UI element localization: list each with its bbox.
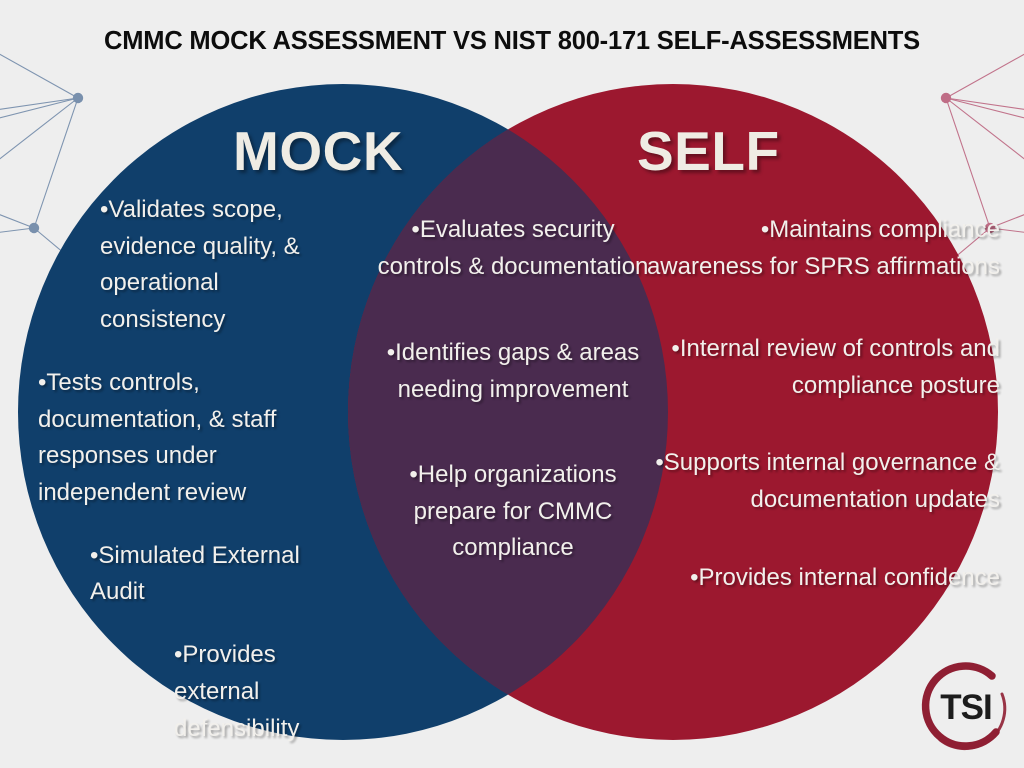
mock-bullet-3: •Simulated External Audit bbox=[90, 538, 338, 611]
self-bullet-2: •Internal review of controls and complia… bbox=[640, 331, 1000, 404]
overlap-bullet-3: •Help organizations prepare for CMMC com… bbox=[368, 457, 658, 567]
overlap-bullet-1: •Evaluates security controls & documenta… bbox=[368, 212, 658, 285]
mock-bullet-1: •Validates scope, evidence quality, & op… bbox=[100, 192, 338, 339]
tsi-logo-text: TSI bbox=[918, 660, 1014, 756]
tsi-logo: TSI bbox=[918, 660, 1014, 756]
self-bullet-list: •Maintains compliance awareness for SPRS… bbox=[640, 212, 1000, 597]
mock-bullet-list: •Validates scope, evidence quality, & op… bbox=[38, 192, 338, 747]
self-bullet-3: •Supports internal governance & document… bbox=[640, 445, 1000, 518]
overlap-bullet-list: •Evaluates security controls & documenta… bbox=[368, 212, 658, 567]
venn-heading-self: SELF bbox=[637, 119, 780, 183]
venn-heading-mock: MOCK bbox=[233, 119, 403, 183]
mock-bullet-4: •Provides external defensibility bbox=[174, 637, 338, 747]
page-title: CMMC MOCK ASSESSMENT VS NIST 800-171 SEL… bbox=[0, 27, 1024, 56]
infographic-canvas: CMMC MOCK ASSESSMENT VS NIST 800-171 SEL… bbox=[0, 0, 1024, 768]
overlap-bullet-2: •Identifies gaps & areas needing improve… bbox=[368, 335, 658, 408]
self-bullet-4: •Provides internal confidence bbox=[640, 560, 1000, 597]
mock-bullet-2: •Tests controls, documentation, & staff … bbox=[38, 365, 338, 512]
self-bullet-1: •Maintains compliance awareness for SPRS… bbox=[640, 212, 1000, 285]
